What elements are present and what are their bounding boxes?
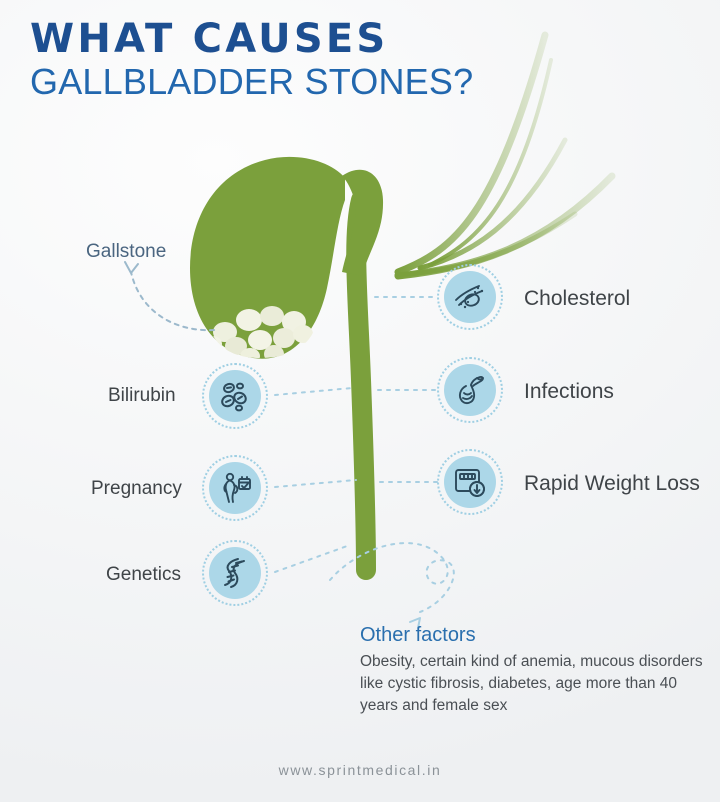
artery-plaque-glyph [453, 280, 487, 314]
artery-plaque-icon[interactable] [444, 271, 496, 323]
pregnant-woman-calendar-glyph [218, 471, 252, 505]
dna-helix-glyph [218, 556, 252, 590]
infographic-poster: WHAT CAUSES GALLBLADDER STONES? [0, 0, 720, 802]
other-factors-body: Obesity, certain kind of anemia, mucous … [360, 651, 710, 717]
cause-label-cholesterol: Cholesterol [524, 287, 630, 311]
red-blood-cells-icon[interactable] [209, 370, 261, 422]
gallbladder-neck [342, 170, 383, 276]
pregnant-woman-calendar-icon[interactable] [209, 462, 261, 514]
other-factors-block: Other factors Obesity, certain kind of a… [360, 624, 710, 717]
cause-label-rapid-weight-loss: Rapid Weight Loss [524, 472, 700, 496]
cause-label-genetics: Genetics [106, 564, 181, 586]
infected-gallbladder-icon[interactable] [444, 364, 496, 416]
gallstones-cluster [204, 306, 313, 364]
connector-bilirubin [275, 388, 352, 395]
gallstone-label: Gallstone [86, 241, 166, 263]
cause-connectors [275, 297, 437, 572]
title-line-1: WHAT CAUSES [30, 18, 473, 60]
weighing-scale-glyph [453, 465, 487, 499]
cause-label-bilirubin: Bilirubin [108, 385, 176, 407]
infected-gallbladder-glyph [453, 373, 487, 407]
other-factors-connector [330, 543, 454, 612]
cause-label-infections: Infections [524, 380, 614, 404]
footer-url[interactable]: www.sprintmedical.in [0, 762, 720, 778]
weighing-scale-down-arrow-icon[interactable] [444, 456, 496, 508]
gallstone-arrowhead [125, 262, 138, 273]
gallbladder-body [190, 157, 345, 359]
red-blood-cells-glyph [218, 379, 252, 413]
other-factors-title: Other factors [360, 624, 710, 647]
dna-helix-icon[interactable] [209, 547, 261, 599]
page-title: WHAT CAUSES GALLBLADDER STONES? [30, 18, 473, 102]
gallstone-pointer [131, 272, 214, 330]
connector-genetics [275, 545, 350, 572]
title-line-2: GALLBLADDER STONES? [30, 62, 473, 102]
connector-pregnancy [275, 480, 356, 487]
bile-duct-trunk [356, 200, 366, 570]
cause-label-pregnancy: Pregnancy [91, 478, 182, 500]
